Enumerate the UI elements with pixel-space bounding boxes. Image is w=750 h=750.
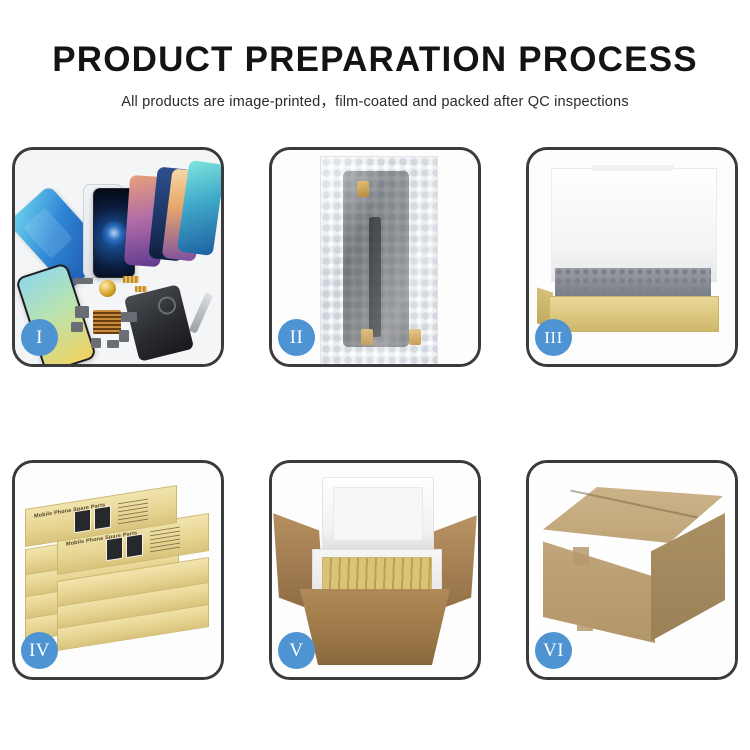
logic-board-chip <box>93 310 121 334</box>
carton-tape-upper <box>573 547 589 565</box>
small-part-5 <box>107 340 119 348</box>
connector-bottom-right <box>409 329 421 345</box>
small-part-1 <box>73 278 93 284</box>
bubble-wrap-sheet <box>320 156 438 364</box>
small-part-4 <box>91 338 101 348</box>
process-step-card-6[interactable]: VI <box>526 460 738 680</box>
page-subtitle: All products are image-printed，film-coat… <box>0 79 750 111</box>
foam-box-lid <box>322 477 434 551</box>
connector-bottom-left <box>361 329 373 345</box>
stacked-retail-boxes-image: Mobile Phone Spare Parts Mobile Phone Sp… <box>15 463 221 677</box>
phone-back-housing <box>124 284 194 362</box>
page-title: PRODUCT PREPARATION PROCESS <box>0 0 750 79</box>
retail-box-screen-thumb-3 <box>74 509 91 534</box>
carton-tape-lower <box>577 615 593 631</box>
retail-box-spec-lines-upper <box>118 499 148 526</box>
process-step-card-2[interactable]: II <box>269 147 481 367</box>
step-badge-6: VI <box>535 632 572 669</box>
carton-front-face <box>543 525 655 643</box>
vibration-motor-part <box>99 280 116 297</box>
process-step-card-3[interactable]: III <box>526 147 738 367</box>
connector-top <box>357 181 369 197</box>
small-part-3 <box>71 322 83 332</box>
product-preparation-page: PRODUCT PREPARATION PROCESS All products… <box>0 0 750 750</box>
step-badge-2: II <box>278 319 315 356</box>
foam-box-in-carton-image: V <box>272 463 478 677</box>
process-step-card-4[interactable]: Mobile Phone Spare Parts Mobile Phone Sp… <box>12 460 224 680</box>
small-part-2 <box>75 306 89 318</box>
carton-body <box>300 589 450 665</box>
page-header: PRODUCT PREPARATION PROCESS All products… <box>0 0 750 111</box>
inner-box-bubble-contents <box>555 268 711 298</box>
process-step-card-1[interactable]: I <box>12 147 224 367</box>
retail-box-screen-thumb-2 <box>126 533 143 558</box>
step-badge-5: V <box>278 632 315 669</box>
retail-box-screen-thumb-4 <box>94 505 111 530</box>
bubble-wrapped-screen-image: II <box>272 150 478 364</box>
open-inner-box-image: III <box>529 150 735 364</box>
sealed-shipping-carton-image: VI <box>529 463 735 677</box>
small-part-7 <box>119 330 129 342</box>
step-badge-3: III <box>535 319 572 356</box>
flex-connector-1 <box>123 276 139 283</box>
inner-box-yellow-front <box>549 296 719 332</box>
screwdriver-tool <box>189 292 213 334</box>
small-part-6 <box>121 312 137 322</box>
phone-parts-assortment-image: I <box>15 150 221 364</box>
step-badge-1: I <box>21 319 58 356</box>
retail-box-spec-lines-lower <box>150 527 180 554</box>
process-step-grid: I II <box>12 147 738 682</box>
process-step-card-5[interactable]: V <box>269 460 481 680</box>
inner-box-white-lid <box>551 168 717 282</box>
flex-cable <box>369 217 381 337</box>
step-badge-4: IV <box>21 632 58 669</box>
flex-connector-2 <box>135 286 147 292</box>
retail-box-screen-thumb-1 <box>106 537 123 562</box>
